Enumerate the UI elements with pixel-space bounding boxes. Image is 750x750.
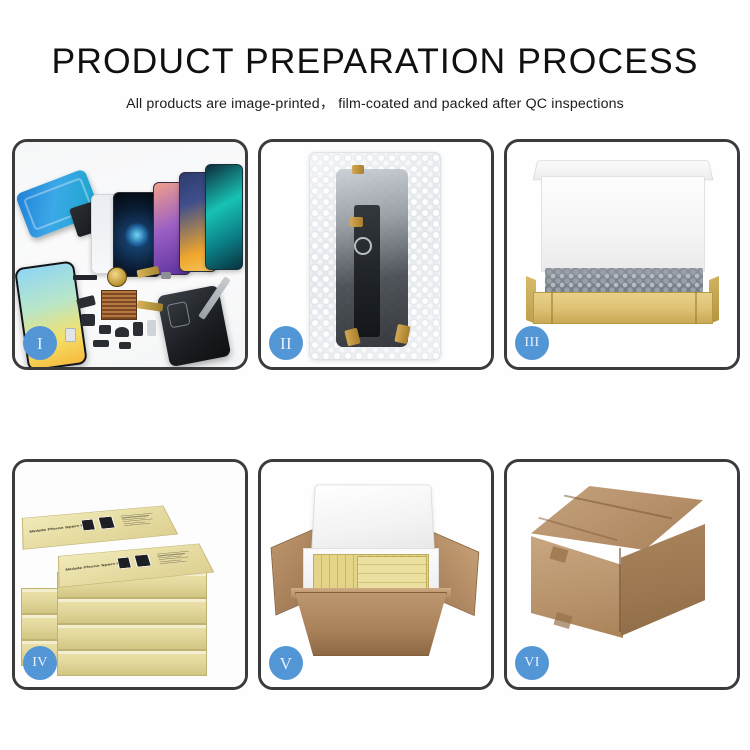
small-part-icon-9 — [93, 340, 109, 347]
process-step-grid: I II — [12, 139, 740, 695]
small-part-icon-10 — [119, 342, 131, 349]
process-step-card-4[interactable]: Mobile Phone Spare Parts Mobile Phone Sp… — [12, 459, 248, 690]
step-badge-1: I — [23, 326, 57, 360]
process-step-card-5[interactable]: V — [258, 459, 494, 690]
page-subtitle: All products are image-printed， film-coa… — [0, 93, 750, 113]
header: PRODUCT PREPARATION PROCESS All products… — [0, 0, 750, 113]
small-part-icon-4 — [115, 327, 129, 337]
speaker-coil-icon — [107, 267, 127, 287]
gold-contact-icon-1 — [352, 165, 364, 174]
box-stack: Mobile Phone Spare Parts Mobile Phone Sp… — [19, 476, 241, 680]
step-badge-4: IV — [23, 646, 57, 680]
small-part-icon-6 — [147, 320, 156, 336]
process-step-card-6[interactable]: VI — [504, 459, 740, 690]
box-front-panel-icon — [533, 292, 713, 324]
bubble-wrap-bag-icon — [309, 152, 441, 360]
box-swatch-front-1 — [117, 557, 132, 569]
connector-ring-icon — [354, 237, 372, 255]
chip-grid-icon — [101, 290, 137, 320]
small-part-icon-1 — [76, 295, 96, 309]
printed-box-top-rear: Mobile Phone Spare Parts — [22, 505, 178, 549]
carton-body-icon — [295, 592, 447, 656]
carton-vertical-edge-icon — [619, 548, 621, 632]
phone-screen-teal-icon — [205, 164, 243, 270]
box-swatch-rear-2 — [98, 516, 116, 529]
small-part-icon-8 — [161, 272, 171, 279]
page-title: PRODUCT PREPARATION PROCESS — [0, 41, 750, 82]
product-preparation-process-infographic: PRODUCT PREPARATION PROCESS All products… — [0, 0, 750, 750]
box-swatch-rear-1 — [81, 519, 96, 531]
box-spec-lines-rear — [121, 513, 158, 527]
step-badge-2: II — [269, 326, 303, 360]
small-part-icon-7 — [65, 328, 76, 342]
foam-lid-icon — [311, 484, 435, 553]
carton-left-face-icon — [531, 534, 623, 638]
box-spec-lines-front — [157, 551, 194, 565]
step-badge-3: III — [515, 326, 549, 360]
foam-sheet-icon — [541, 176, 705, 272]
box-swatch-front-2 — [134, 554, 152, 567]
stacked-box-right-2 — [57, 598, 207, 624]
process-step-card-3[interactable]: III — [504, 139, 740, 370]
process-step-card-2[interactable]: II — [258, 139, 494, 370]
box-crease-icon-2 — [695, 292, 697, 324]
small-part-icon-2 — [81, 314, 95, 326]
stacked-box-right-3 — [57, 624, 207, 650]
small-part-icon-5 — [133, 322, 143, 336]
gold-contact-icon-2 — [350, 217, 363, 227]
yellow-boxes-block-icon — [357, 556, 427, 592]
process-step-card-1[interactable]: I — [12, 139, 248, 370]
step-badge-5: V — [269, 646, 303, 680]
gold-contact-icon-4 — [394, 324, 410, 344]
stacked-box-right-4 — [57, 650, 207, 676]
box-crease-icon-1 — [551, 292, 553, 324]
step-badge-6: VI — [515, 646, 549, 680]
small-part-icon-3 — [99, 325, 111, 334]
phone-housing-icon — [157, 285, 232, 368]
earpiece-bar-icon — [73, 275, 97, 280]
